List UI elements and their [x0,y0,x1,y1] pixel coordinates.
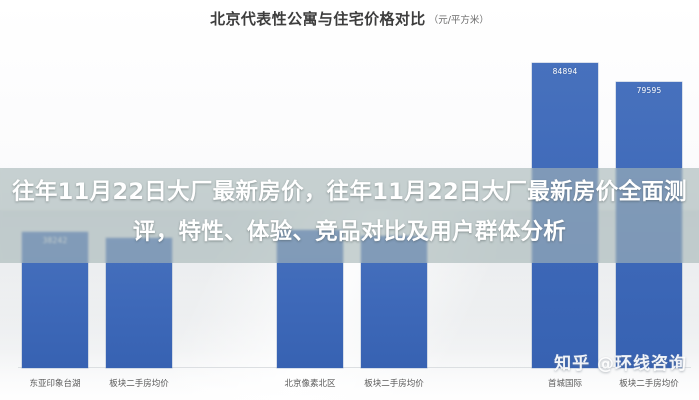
headline-text: 往年11月22日大厂最新房价，往年11月22日大厂最新房价全面测评，特性、体验、… [0,172,699,252]
chart-title-unit: （元/平方米） [429,15,489,26]
chart-title: 北京代表性公寓与住宅价格对比（元/平方米） [0,8,699,29]
screenshot-canvas: 北京代表性公寓与住宅价格对比（元/平方米） 38242 东亚印象台湖 板块二手房… [0,0,699,400]
bar-category-6: 板块二手房均价 [619,379,679,390]
bar-category-4: 板块二手房均价 [364,379,424,390]
chart-title-main: 北京代表性公寓与住宅价格对比 [210,10,426,28]
bar-value-5: 84894 [532,67,598,76]
bar-category-2: 板块二手房均价 [109,379,169,390]
bar-category-1: 东亚印象台湖 [29,379,80,390]
bar-value-6: 79595 [616,86,682,95]
watermark: 知乎 @环线咨询 [554,349,687,374]
bar-category-5: 首城国际 [548,379,582,390]
bar-category-3: 北京像素北区 [284,379,335,390]
